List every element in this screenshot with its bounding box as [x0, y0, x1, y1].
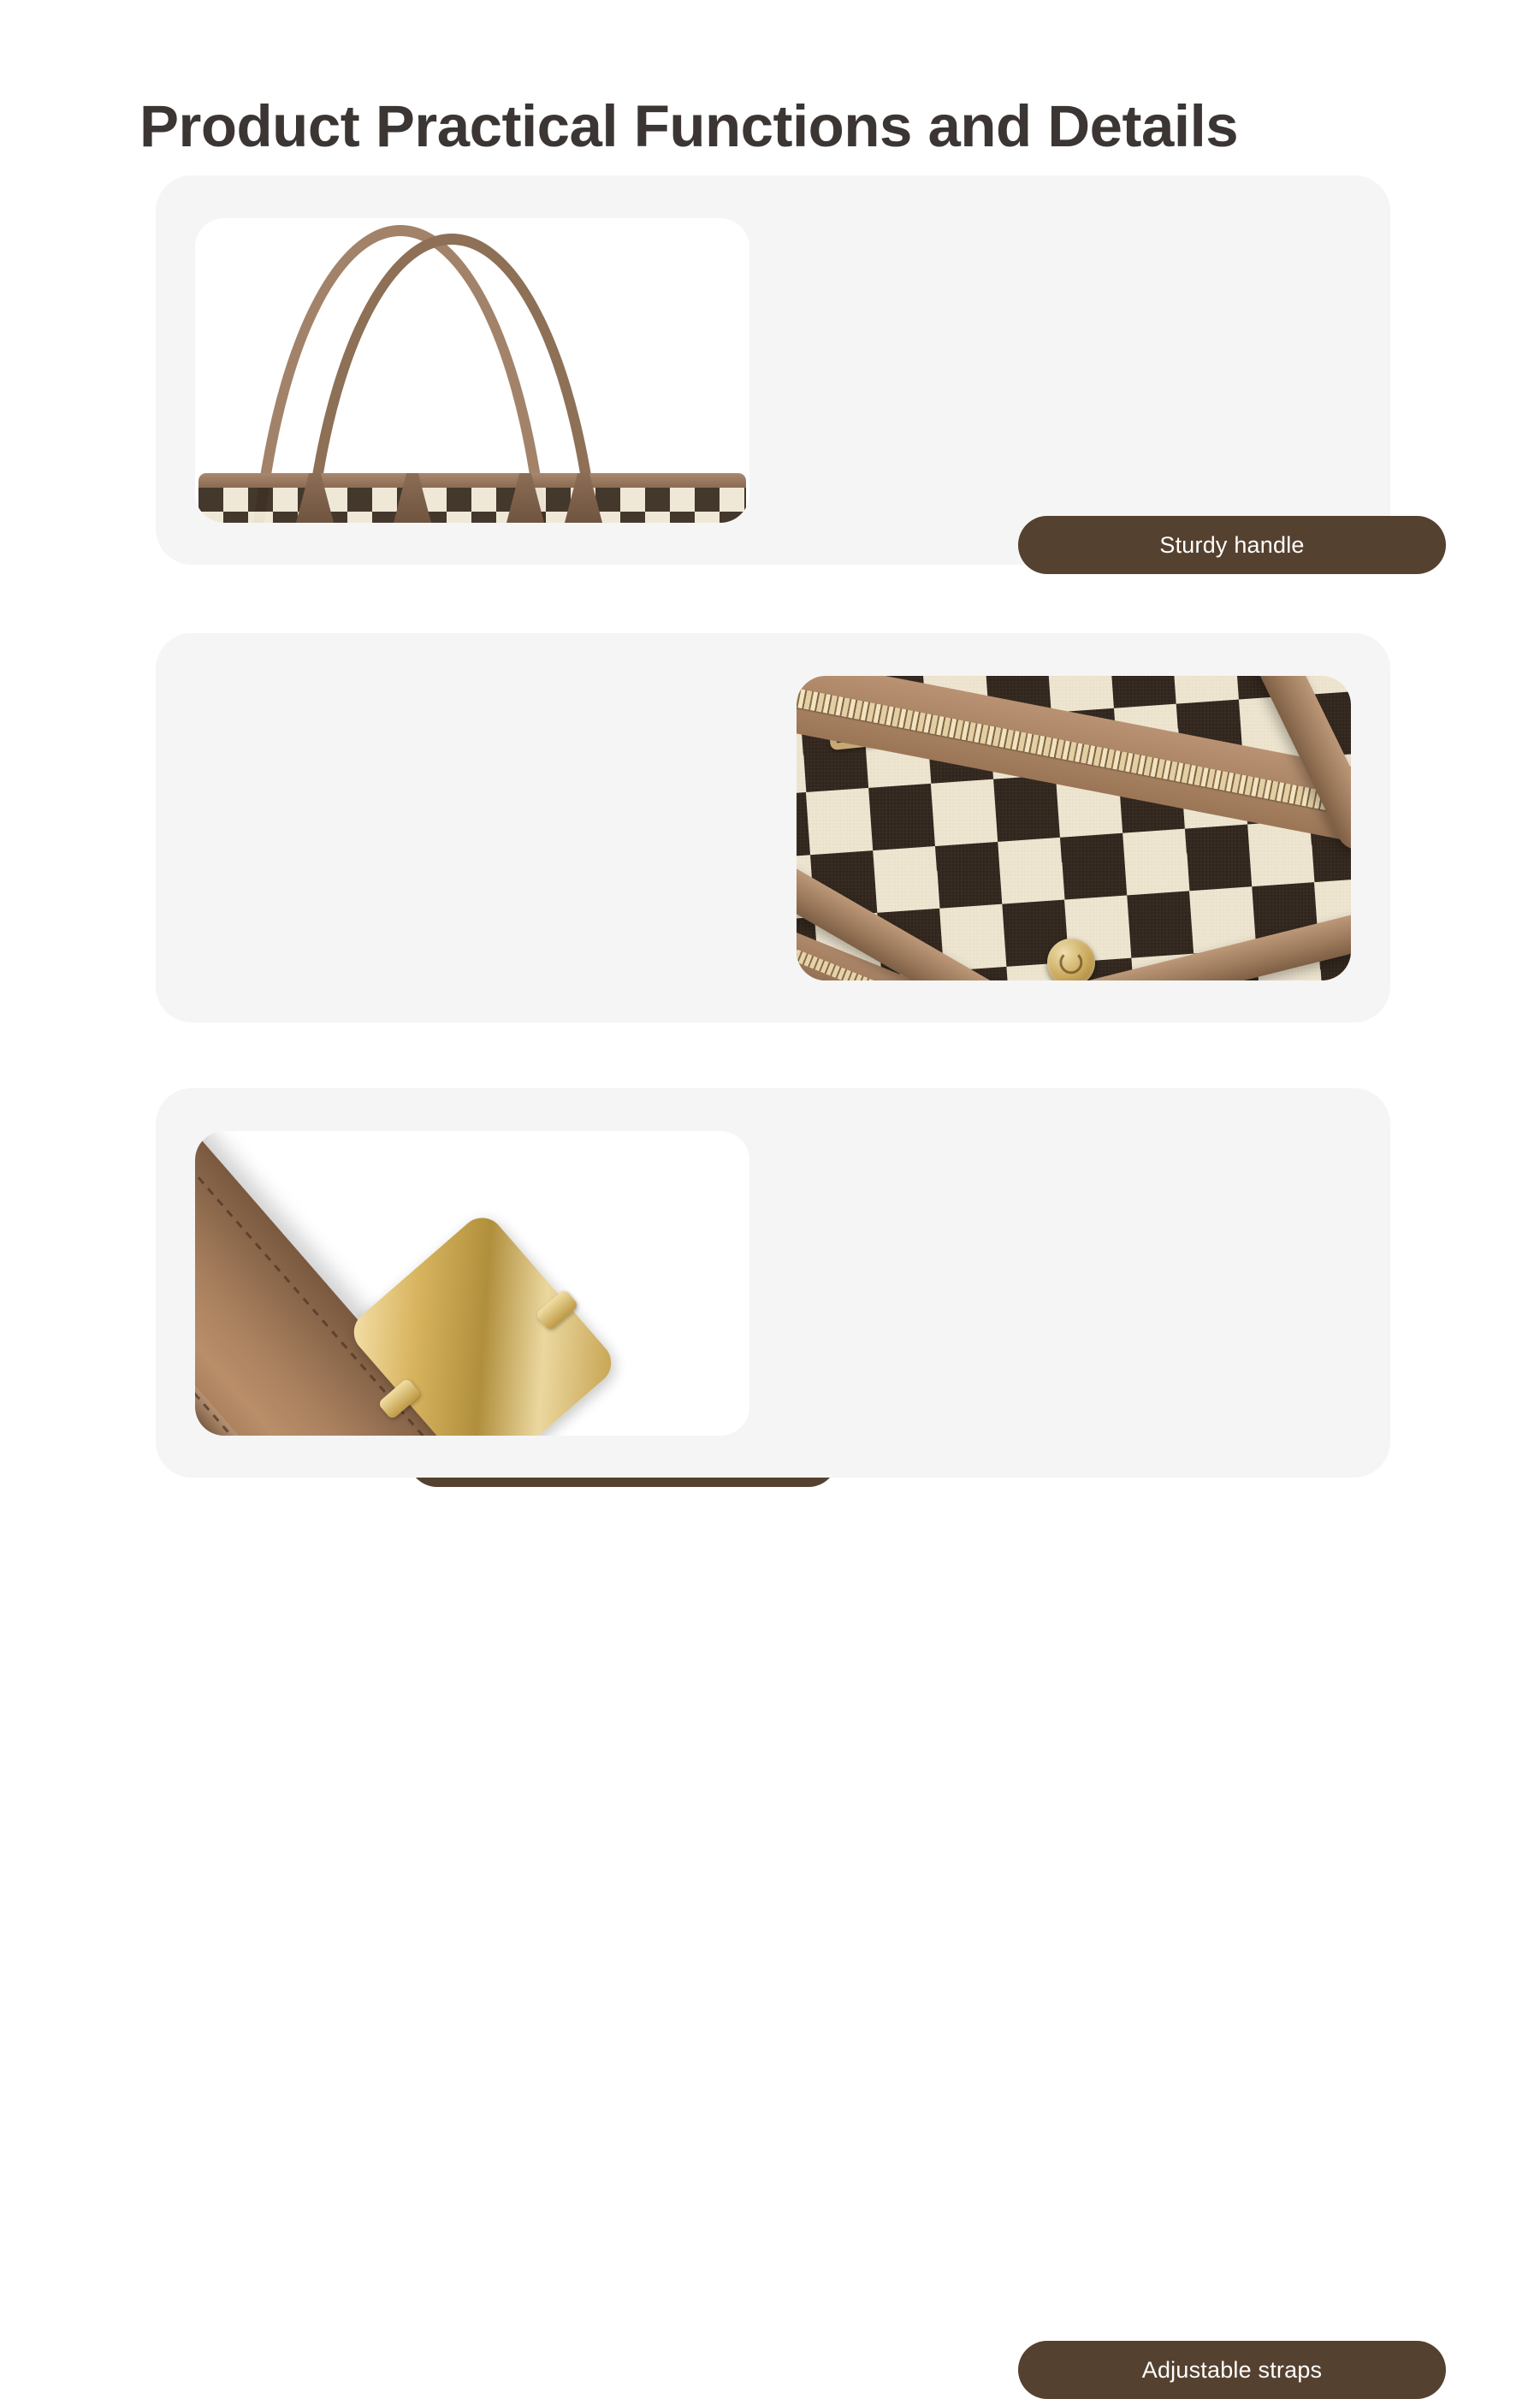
page-title: Product Practical Functions and Details [139, 92, 1423, 160]
checkerboard-pattern [198, 487, 746, 523]
bag-top-edge [195, 473, 749, 523]
leather-trim [198, 473, 746, 488]
feature-image-adjustable-straps [195, 1131, 749, 1436]
feature-image-sturdy-handle [195, 218, 749, 523]
magnetic-snap-icon-1 [1047, 939, 1095, 980]
feature-image-magnetic-clasp [797, 676, 1351, 980]
strap-illustration [195, 1131, 749, 1436]
feature-label-sturdy-handle[interactable]: Sturdy handle [1018, 516, 1446, 574]
feature-label-adjustable-straps[interactable]: Adjustable straps [1018, 2341, 1446, 2399]
feature-card-sturdy-handle: Sturdy handle [156, 175, 1390, 565]
product-detail-page: Product Practical Functions and Details … [0, 0, 1540, 1540]
stitch-line-left [195, 1140, 369, 1436]
feature-card-magnetic-clasp: Magnetic clasp design [156, 633, 1390, 1022]
strap-fold [195, 1137, 372, 1436]
feature-card-adjustable-straps: Adjustable straps [156, 1088, 1390, 1478]
handle-illustration [195, 218, 749, 523]
clasp-illustration [797, 676, 1351, 980]
